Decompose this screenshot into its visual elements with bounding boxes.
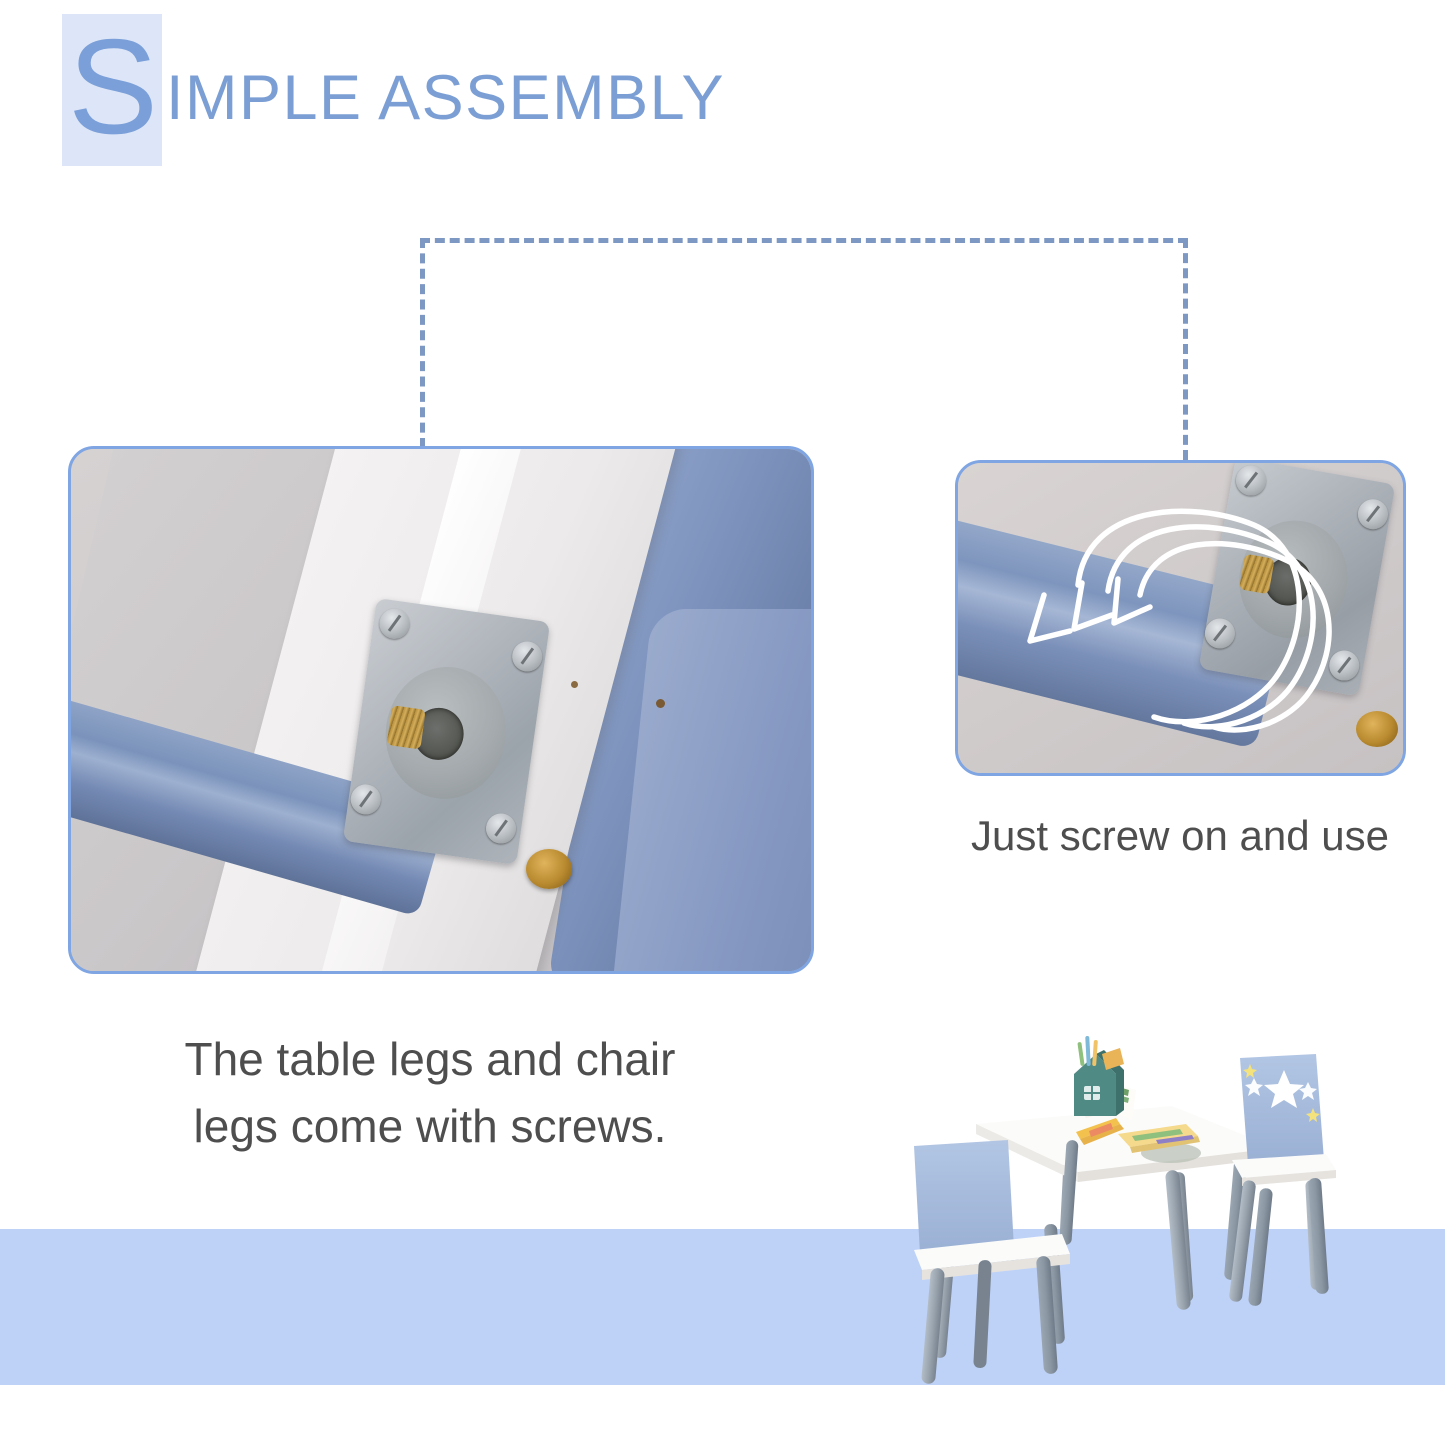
infographic-canvas: S IMPLE ASSEMBLY: [0, 0, 1445, 1445]
drop-cap-letter: S: [68, 19, 156, 154]
dashed-bracket-connector: [420, 238, 1188, 460]
bracket-horizontal-line: [420, 238, 1188, 243]
plate-screw-icon: [1356, 497, 1391, 532]
caption-screw-on-and-use: Just screw on and use: [880, 812, 1445, 860]
brass-thread-icon: [1239, 554, 1275, 595]
pencil: [1077, 1042, 1084, 1066]
metal-mounting-plate: [343, 598, 550, 865]
bracket-left-drop-line: [420, 238, 425, 448]
wood-pin-hole: [571, 681, 578, 688]
product-photo-kids-table-set: [880, 1012, 1340, 1392]
house-pencil-holder: [1074, 1036, 1124, 1116]
drop-cap-badge: S: [62, 14, 162, 166]
page-title: S IMPLE ASSEMBLY: [62, 14, 725, 166]
plate-screw-icon: [510, 640, 544, 674]
plate-screw-icon: [1203, 616, 1238, 651]
plate-screw-icon: [349, 782, 383, 816]
plate-screw-icon: [484, 812, 518, 846]
kids-table-and-chairs-illustration: [880, 1012, 1340, 1392]
plate-screw-icon: [1234, 463, 1269, 498]
photo-left-scene: [71, 449, 811, 971]
brass-wood-screw-icon: [526, 849, 572, 889]
wood-pin-hole: [656, 699, 665, 708]
photo-panel-leg-mounting-plate: [68, 446, 814, 974]
chair-left: [914, 1140, 1070, 1384]
caption-line-1: The table legs and chair: [80, 1026, 780, 1093]
pencil: [1085, 1036, 1091, 1066]
chair-right: [1229, 1054, 1336, 1306]
chair-backrest: [914, 1140, 1014, 1254]
caption-legs-come-with-screws: The table legs and chair legs come with …: [80, 1026, 780, 1159]
chair-leg: [973, 1260, 992, 1369]
plate-screw-icon: [1327, 648, 1362, 683]
photo-right-scene: [958, 463, 1403, 773]
brass-thread-icon: [387, 705, 426, 749]
page-title-text: IMPLE ASSEMBLY: [166, 62, 725, 134]
brass-wood-screw-icon: [1356, 711, 1398, 747]
plate-screw-icon: [378, 607, 412, 641]
caption-line-2: legs come with screws.: [80, 1093, 780, 1160]
bracket-right-drop-line: [1183, 238, 1188, 460]
photo-panel-screw-on-leg: [955, 460, 1406, 776]
